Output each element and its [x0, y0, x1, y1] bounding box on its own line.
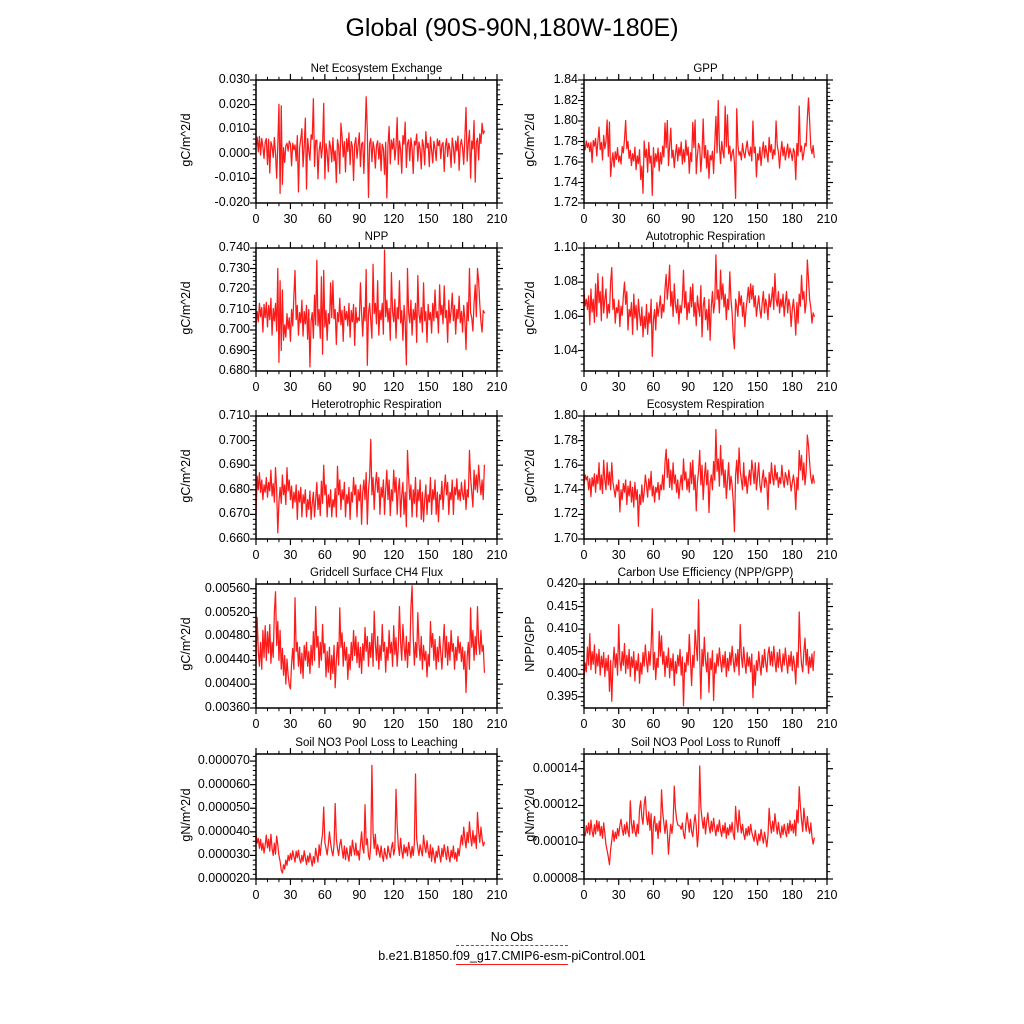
x-tick-label: 180 [772, 548, 812, 562]
y-tick-label: 1.76 [498, 154, 578, 168]
x-tick-label: 180 [443, 212, 483, 226]
y-tick-label: 1.76 [498, 457, 578, 471]
x-tick-label: 90 [339, 717, 379, 731]
chart-panel: Soil NO3 Pool Loss to RunoffgN/m^2/d0.00… [0, 0, 1024, 1024]
x-tick-label: 90 [668, 212, 708, 226]
x-tick-label: 150 [408, 717, 448, 731]
axes-frame [256, 754, 497, 879]
x-tick-label: 180 [772, 380, 812, 394]
x-tick-label: 30 [270, 548, 310, 562]
x-tick-label: 180 [443, 717, 483, 731]
x-tick-label: 90 [339, 888, 379, 902]
y-axis-label: gC/m^2/d [179, 248, 193, 368]
x-tick-label: 0 [564, 380, 604, 394]
x-tick-label: 180 [443, 380, 483, 394]
x-tick-label: 150 [738, 888, 778, 902]
x-tick-label: 60 [305, 548, 345, 562]
legend-model-swatch [456, 964, 568, 965]
x-tick-label: 60 [305, 380, 345, 394]
data-series-line [256, 439, 484, 532]
x-tick-label: 30 [270, 380, 310, 394]
x-tick-label: 30 [599, 380, 639, 394]
y-axis-label: gN/m^2/d [523, 755, 537, 875]
x-tick-label: 90 [339, 380, 379, 394]
x-tick-label: 150 [408, 548, 448, 562]
axes-frame [584, 416, 827, 539]
data-series-line [584, 255, 814, 356]
y-tick-label: 0.415 [498, 599, 578, 613]
y-axis-label: gC/m^2/d [523, 80, 537, 200]
x-tick-label: 210 [807, 548, 847, 562]
plot-area [0, 0, 1024, 1024]
y-tick-label: 1.72 [498, 506, 578, 520]
x-tick-label: 180 [772, 212, 812, 226]
y-tick-label: 0.400 [498, 666, 578, 680]
x-tick-label: 210 [807, 380, 847, 394]
axes-frame [256, 416, 497, 539]
x-tick-label: 0 [564, 212, 604, 226]
axes-frame [584, 80, 827, 203]
data-series-line [584, 98, 814, 198]
axes-frame [584, 416, 827, 539]
axes-frame [256, 584, 497, 708]
chart-panel: Ecosystem RespirationgC/m^2/d1.701.721.7… [0, 0, 1024, 1024]
x-tick-label: 210 [477, 212, 517, 226]
y-tick-label: 0.730 [170, 261, 250, 275]
y-tick-label: 0.010 [170, 121, 250, 135]
x-tick-label: 210 [477, 380, 517, 394]
x-tick-label: 90 [339, 212, 379, 226]
x-tick-label: 180 [443, 548, 483, 562]
axes-frame [584, 80, 827, 203]
y-tick-label: 1.10 [498, 240, 578, 254]
y-axis-label: gC/m^2/d [179, 416, 193, 536]
y-tick-label: -0.020 [170, 195, 250, 209]
y-tick-label: 1.06 [498, 308, 578, 322]
x-tick-label: 60 [633, 212, 673, 226]
plot-area [0, 0, 1024, 1024]
y-tick-label: 1.80 [498, 408, 578, 422]
axes-frame [584, 754, 827, 879]
x-tick-label: 0 [236, 888, 276, 902]
x-tick-label: 150 [738, 212, 778, 226]
x-tick-label: 180 [443, 888, 483, 902]
x-tick-label: 60 [633, 717, 673, 731]
y-tick-label: 0.020 [170, 97, 250, 111]
y-tick-label: 1.78 [498, 134, 578, 148]
y-tick-label: 0.395 [498, 689, 578, 703]
panel-title: Heterotrophic Respiration [256, 399, 497, 411]
y-axis-label: gC/m^2/d [523, 248, 537, 368]
plot-area [0, 0, 1024, 1024]
axes-frame [584, 584, 827, 708]
y-tick-label: 0.410 [498, 621, 578, 635]
plot-area [0, 0, 1024, 1024]
x-tick-label: 150 [408, 888, 448, 902]
x-tick-label: 0 [564, 717, 604, 731]
y-tick-label: 0.00008 [498, 871, 578, 885]
x-tick-label: 90 [668, 717, 708, 731]
x-tick-label: 90 [339, 548, 379, 562]
y-tick-label: 0.000030 [170, 847, 250, 861]
axes-frame [256, 80, 497, 203]
chart-panel: Net Ecosystem ExchangegC/m^2/d-0.020-0.0… [0, 0, 1024, 1024]
panel-title: Autotrophic Respiration [584, 231, 827, 243]
chart-panel: Soil NO3 Pool Loss to LeachinggN/m^2/d0.… [0, 0, 1024, 1024]
x-tick-label: 120 [703, 212, 743, 226]
figure-canvas: Global (90S-90N,180W-180E) Net Ecosystem… [0, 0, 1024, 1024]
axes-frame [584, 248, 827, 371]
x-tick-label: 210 [477, 717, 517, 731]
x-tick-label: 30 [270, 212, 310, 226]
y-tick-label: 0.700 [170, 433, 250, 447]
x-tick-label: 120 [703, 548, 743, 562]
x-tick-label: 30 [270, 717, 310, 731]
y-tick-label: 0.420 [498, 576, 578, 590]
x-tick-label: 0 [236, 717, 276, 731]
legend-obs-label: No Obs [0, 930, 1024, 944]
y-axis-label: NPP/GPP [523, 584, 537, 704]
y-tick-label: 0.00560 [170, 581, 250, 595]
x-tick-label: 90 [668, 888, 708, 902]
y-tick-label: 0.740 [170, 240, 250, 254]
legend-model-label: b.e21.B1850.f09_g17.CMIP6-esm-piControl.… [0, 949, 1024, 963]
x-tick-label: 60 [305, 212, 345, 226]
y-tick-label: 0.00520 [170, 605, 250, 619]
panel-title: Net Ecosystem Exchange [256, 63, 497, 75]
x-tick-label: 120 [374, 888, 414, 902]
y-tick-label: 0.000050 [170, 800, 250, 814]
x-tick-label: 210 [807, 888, 847, 902]
y-tick-label: 0.405 [498, 644, 578, 658]
y-tick-label: 1.04 [498, 343, 578, 357]
y-tick-label: 0.00010 [498, 834, 578, 848]
x-tick-label: 0 [236, 548, 276, 562]
x-tick-label: 210 [807, 717, 847, 731]
y-tick-label: 1.74 [498, 175, 578, 189]
x-tick-label: 120 [703, 888, 743, 902]
x-tick-label: 60 [633, 380, 673, 394]
y-tick-label: 1.82 [498, 93, 578, 107]
panel-title: Soil NO3 Pool Loss to Runoff [584, 737, 827, 749]
axes-frame [584, 584, 827, 708]
y-tick-label: 0.00440 [170, 652, 250, 666]
axes-frame [584, 248, 827, 371]
plot-area [0, 0, 1024, 1024]
y-tick-label: 0.660 [170, 531, 250, 545]
chart-panel: NPPgC/m^2/d0.6800.6900.7000.7100.7200.73… [0, 0, 1024, 1024]
y-tick-label: 1.72 [498, 195, 578, 209]
x-tick-label: 60 [305, 717, 345, 731]
x-tick-label: 120 [703, 717, 743, 731]
data-series-line [584, 600, 814, 706]
data-series-line [256, 765, 484, 873]
y-tick-label: 0.00012 [498, 797, 578, 811]
y-tick-label: 0.030 [170, 72, 250, 86]
y-tick-label: 0.00360 [170, 700, 250, 714]
axes-frame [256, 584, 497, 708]
x-tick-label: 30 [599, 717, 639, 731]
axes-frame [256, 248, 497, 371]
page-title: Global (90S-90N,180W-180E) [0, 14, 1024, 43]
y-axis-label: gN/m^2/d [179, 755, 193, 875]
y-tick-label: 0.00014 [498, 761, 578, 775]
axes-frame [256, 248, 497, 371]
x-tick-label: 60 [305, 888, 345, 902]
x-tick-label: 120 [374, 212, 414, 226]
chart-panel: Autotrophic RespirationgC/m^2/d1.041.061… [0, 0, 1024, 1024]
panel-title: Ecosystem Respiration [584, 399, 827, 411]
panel-title: NPP [256, 231, 497, 243]
chart-panel: Carbon Use Efficiency (NPP/GPP)NPP/GPP0.… [0, 0, 1024, 1024]
y-tick-label: 0.720 [170, 281, 250, 295]
data-series-line [584, 766, 814, 865]
panel-title: GPP [584, 63, 827, 75]
plot-area [0, 0, 1024, 1024]
y-tick-label: 0.000040 [170, 824, 250, 838]
x-tick-label: 0 [564, 888, 604, 902]
y-tick-label: 0.000060 [170, 777, 250, 791]
x-tick-label: 0 [564, 548, 604, 562]
data-series-line [256, 586, 484, 693]
y-tick-label: 1.74 [498, 482, 578, 496]
y-tick-label: 1.80 [498, 113, 578, 127]
panel-title: Carbon Use Efficiency (NPP/GPP) [584, 567, 827, 579]
x-tick-label: 30 [270, 888, 310, 902]
x-tick-label: 210 [477, 888, 517, 902]
y-tick-label: 0.670 [170, 506, 250, 520]
axes-frame [256, 80, 497, 203]
panel-title: Gridcell Surface CH4 Flux [256, 567, 497, 579]
y-tick-label: 0.690 [170, 343, 250, 357]
y-tick-label: 1.70 [498, 531, 578, 545]
data-series-line [256, 97, 484, 198]
y-axis-label: gC/m^2/d [179, 80, 193, 200]
y-tick-label: 0.710 [170, 408, 250, 422]
y-tick-label: 0.710 [170, 302, 250, 316]
axes-frame [256, 416, 497, 539]
legend: No Obsb.e21.B1850.f09_g17.CMIP6-esm-piCo… [0, 930, 1024, 968]
y-tick-label: 1.84 [498, 72, 578, 86]
x-tick-label: 150 [408, 380, 448, 394]
x-tick-label: 150 [738, 717, 778, 731]
x-tick-label: 210 [807, 212, 847, 226]
x-tick-label: 60 [633, 548, 673, 562]
y-tick-label: 0.00400 [170, 676, 250, 690]
plot-area [0, 0, 1024, 1024]
y-axis-label: gC/m^2/d [179, 584, 193, 704]
y-tick-label: 0.680 [170, 482, 250, 496]
x-tick-label: 120 [374, 717, 414, 731]
x-tick-label: 150 [738, 380, 778, 394]
x-tick-label: 180 [772, 888, 812, 902]
chart-panel: Gridcell Surface CH4 FluxgC/m^2/d0.00360… [0, 0, 1024, 1024]
x-tick-label: 30 [599, 888, 639, 902]
y-tick-label: 1.78 [498, 433, 578, 447]
x-tick-label: 0 [236, 212, 276, 226]
data-series-line [256, 250, 484, 367]
axes-frame [584, 754, 827, 879]
plot-area [0, 0, 1024, 1024]
x-tick-label: 90 [668, 548, 708, 562]
y-tick-label: 0.700 [170, 322, 250, 336]
x-tick-label: 120 [374, 380, 414, 394]
x-tick-label: 30 [599, 548, 639, 562]
y-tick-label: -0.010 [170, 170, 250, 184]
y-axis-label: gC/m^2/d [523, 416, 537, 536]
x-tick-label: 0 [236, 380, 276, 394]
y-tick-label: 0.000 [170, 146, 250, 160]
x-tick-label: 120 [374, 548, 414, 562]
plot-area [0, 0, 1024, 1024]
x-tick-label: 120 [703, 380, 743, 394]
y-tick-label: 0.000070 [170, 753, 250, 767]
panel-title: Soil NO3 Pool Loss to Leaching [256, 737, 497, 749]
y-tick-label: 0.690 [170, 457, 250, 471]
axes-frame [256, 754, 497, 879]
y-tick-label: 0.680 [170, 363, 250, 377]
x-tick-label: 180 [772, 717, 812, 731]
data-series-line [584, 430, 814, 532]
chart-panel: Heterotrophic RespirationgC/m^2/d0.6600.… [0, 0, 1024, 1024]
chart-panel: GPPgC/m^2/d1.721.741.761.781.801.821.840… [0, 0, 1024, 1024]
plot-area [0, 0, 1024, 1024]
x-tick-label: 30 [599, 212, 639, 226]
x-tick-label: 90 [668, 380, 708, 394]
legend-obs-swatch [456, 945, 568, 946]
x-tick-label: 150 [408, 212, 448, 226]
y-tick-label: 0.000020 [170, 871, 250, 885]
y-tick-label: 0.00480 [170, 628, 250, 642]
x-tick-label: 210 [477, 548, 517, 562]
y-tick-label: 1.08 [498, 274, 578, 288]
x-tick-label: 60 [633, 888, 673, 902]
x-tick-label: 150 [738, 548, 778, 562]
